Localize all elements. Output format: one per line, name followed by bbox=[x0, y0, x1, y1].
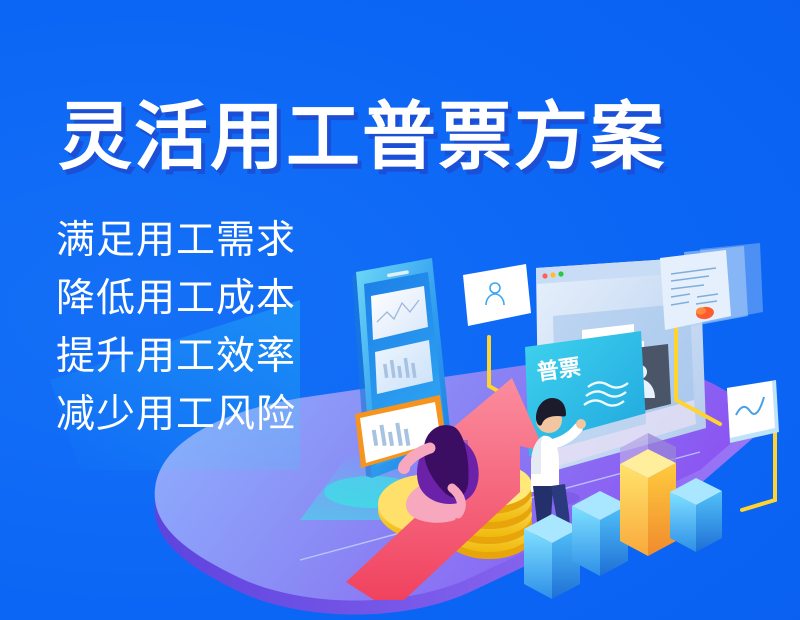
window-dot-maximize bbox=[558, 271, 563, 276]
bar-3 bbox=[620, 433, 676, 556]
bar-4 bbox=[670, 478, 722, 552]
promo-banner: 普票 bbox=[0, 0, 800, 620]
window-dot-minimize bbox=[550, 272, 555, 277]
page-title: 灵活用工普票方案 bbox=[58, 96, 666, 178]
bar-2 bbox=[572, 491, 628, 576]
benefit-item-1: 降低用工成本 bbox=[56, 274, 296, 324]
bar-1 bbox=[524, 514, 580, 599]
benefit-item-0: 满足用工需求 bbox=[56, 216, 296, 266]
benefit-item-3: 减少用工风险 bbox=[56, 390, 296, 440]
benefit-item-2: 提升用工效率 bbox=[56, 332, 296, 382]
benefit-list: 满足用工需求 降低用工成本 提升用工效率 减少用工风险 bbox=[56, 216, 296, 440]
window-dot-close bbox=[542, 273, 547, 278]
